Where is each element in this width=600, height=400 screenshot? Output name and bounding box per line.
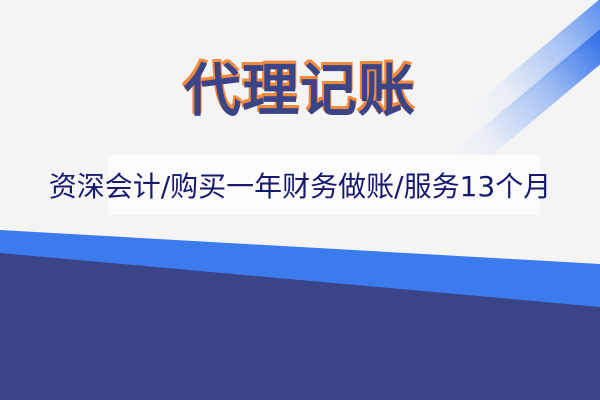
promo-banner: 代理记账 资深会计/购买一年财务做账/服务13个月 — [0, 0, 600, 400]
page-title: 代理记账 — [184, 62, 416, 122]
subtitle-container: 资深会计/购买一年财务做账/服务13个月 — [0, 155, 600, 215]
subtitle-text: 资深会计/购买一年财务做账/服务13个月 — [49, 165, 552, 205]
title-container: 代理记账 — [0, 62, 600, 122]
